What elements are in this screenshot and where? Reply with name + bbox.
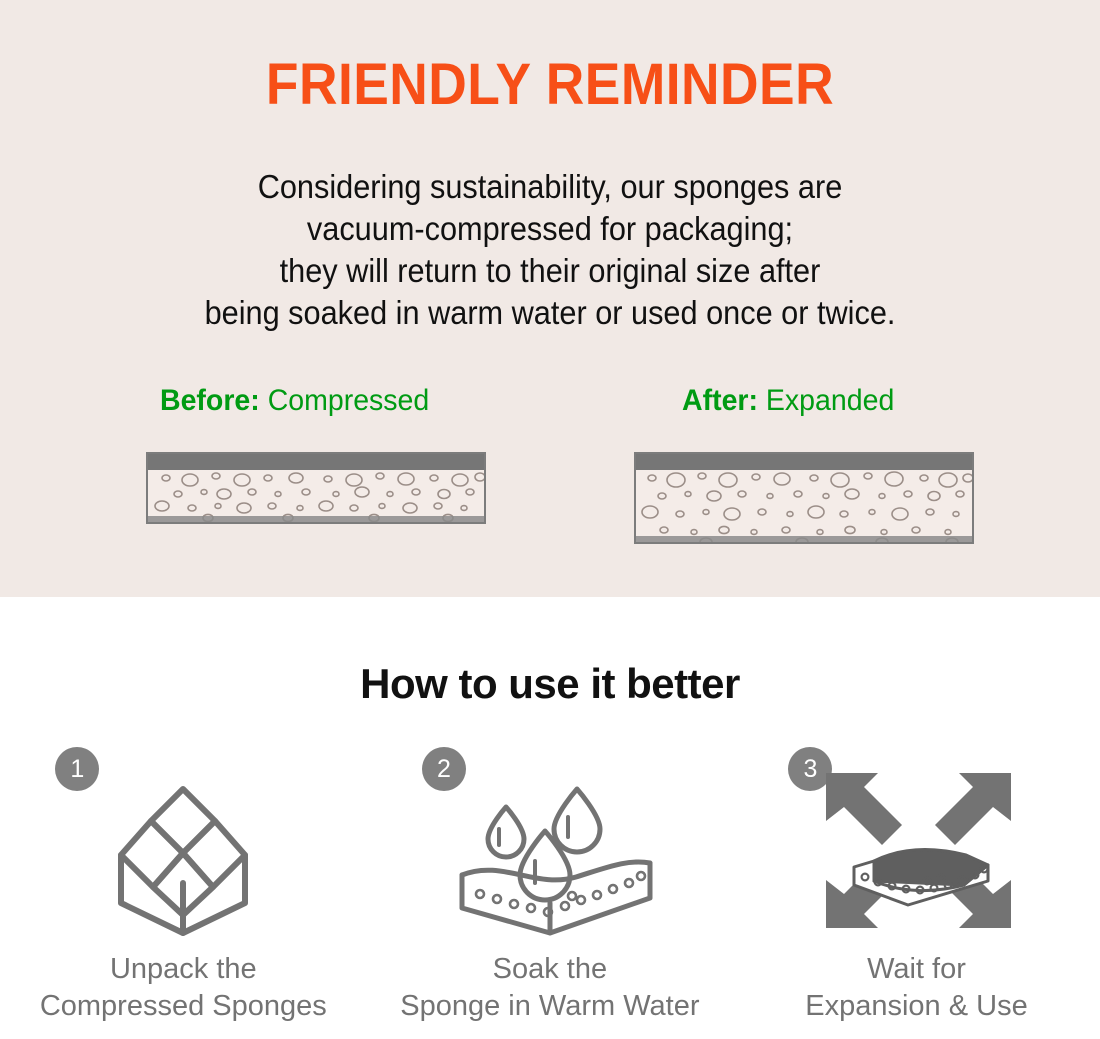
- reminder-body-line-1: Considering sustainability, our sponges …: [39, 166, 1062, 208]
- step-item: 2: [367, 745, 734, 1025]
- steps-list: 1: [0, 745, 1100, 1025]
- before-label-strong: Before:: [160, 384, 260, 417]
- reminder-body-line-2: vacuum-compressed for packaging;: [39, 208, 1062, 250]
- open-box-icon: [83, 763, 283, 938]
- reminder-body-text: Considering sustainability, our sponges …: [39, 166, 1062, 334]
- page-title: FRIENDLY REMINDER: [44, 56, 1056, 114]
- before-label: Before: Compressed: [160, 386, 429, 416]
- expanded-sponge-illustration: [634, 452, 974, 544]
- step-caption-line-1: Unpack the: [40, 951, 327, 988]
- sponge-bottom-edge: [148, 516, 484, 522]
- water-drops-on-sponge-icon: [450, 763, 660, 938]
- step-item: 3: [733, 745, 1100, 1025]
- step-caption-line-2: Compressed Sponges: [40, 988, 327, 1025]
- sponge-bottom-edge: [636, 536, 972, 542]
- reminder-body-line-3: they will return to their original size …: [39, 250, 1062, 292]
- how-to-use-section: How to use it better 1: [0, 597, 1100, 1039]
- sponge-pores: [148, 454, 486, 524]
- after-label-rest: Expanded: [766, 384, 894, 417]
- step-item: 1: [0, 745, 367, 1025]
- step-caption-line-1: Wait for: [805, 951, 1027, 988]
- step-caption-line-1: Soak the: [400, 951, 699, 988]
- step-artwork: 2: [420, 745, 680, 945]
- step-artwork: 3: [786, 745, 1046, 945]
- after-label-strong: After:: [682, 384, 758, 417]
- step-caption: Soak the Sponge in Warm Water: [400, 951, 699, 1025]
- friendly-reminder-section: FRIENDLY REMINDER Considering sustainabi…: [0, 0, 1100, 597]
- step-caption: Wait for Expansion & Use: [805, 951, 1027, 1025]
- step-caption-line-2: Sponge in Warm Water: [400, 988, 699, 1025]
- step-caption: Unpack the Compressed Sponges: [40, 951, 327, 1025]
- step-artwork: 1: [53, 745, 313, 945]
- before-label-rest: Compressed: [268, 384, 430, 417]
- sponge-pores: [636, 454, 974, 544]
- step-caption-line-2: Expansion & Use: [805, 988, 1027, 1025]
- section-title: How to use it better: [0, 663, 1100, 705]
- compressed-sponge-illustration: [146, 452, 486, 524]
- reminder-body-line-4: being soaked in warm water or used once …: [39, 292, 1062, 334]
- after-label: After: Expanded: [682, 386, 894, 416]
- expanding-arrows-sponge-icon: [816, 763, 1021, 938]
